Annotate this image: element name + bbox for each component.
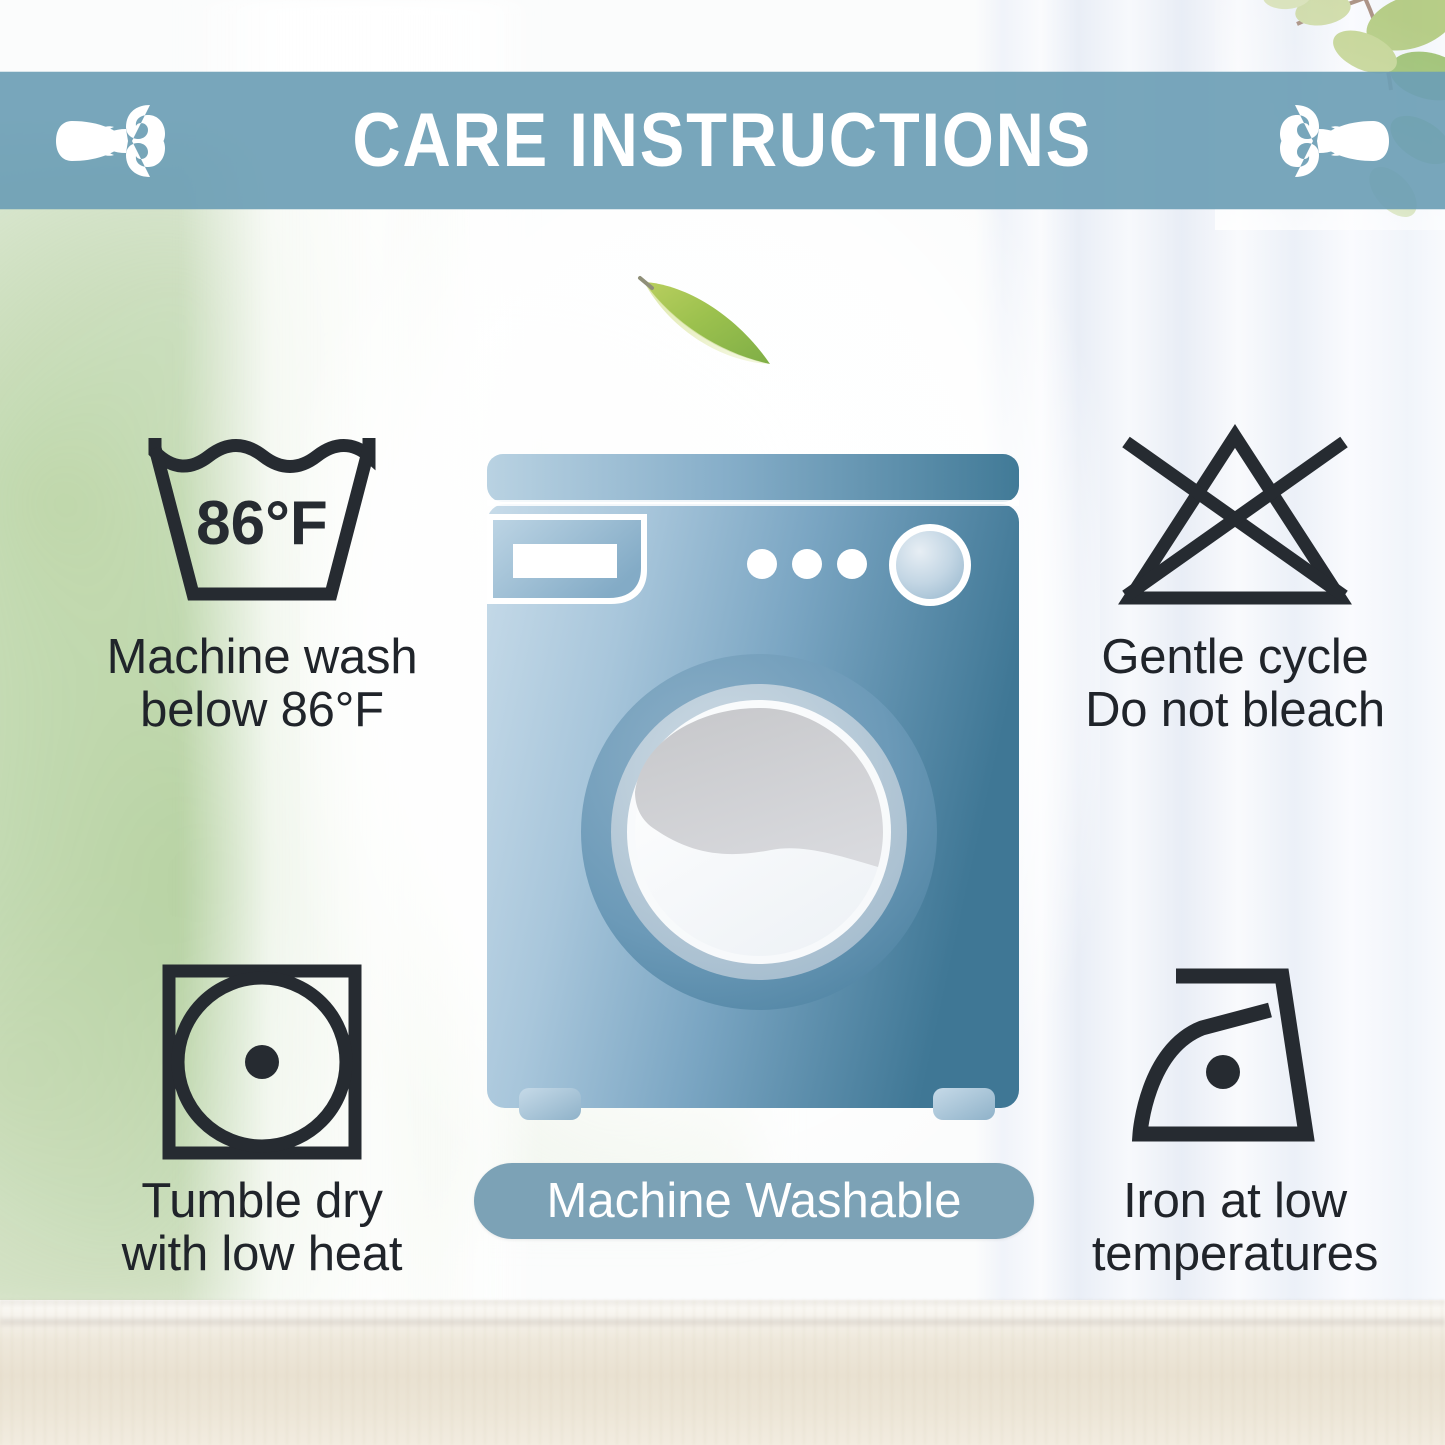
care-symbol-tumble-dry: Tumble dry with low heat — [52, 962, 472, 1281]
caption-line-1: Tumble dry — [122, 1175, 403, 1228]
iron-low-icon — [1110, 962, 1360, 1167]
crossed-triangle-icon — [1110, 418, 1360, 623]
caption-line-2: below 86°F — [107, 684, 418, 737]
infographic-canvas: CARE INSTRUCTIONS — [0, 0, 1445, 1445]
care-symbol-iron-low: Iron at low temperatures — [1025, 962, 1445, 1281]
wood-table-edge — [0, 1317, 1445, 1327]
page-title: CARE INSTRUCTIONS — [344, 103, 1101, 179]
control-knob — [889, 524, 971, 606]
caption-line-1: Gentle cycle — [1085, 631, 1385, 684]
wash-temperature-label: 86°F — [196, 489, 328, 558]
caption-line-1: Iron at low — [1092, 1175, 1378, 1228]
indicator-lights — [747, 549, 867, 579]
caption-line-2: with low heat — [122, 1228, 403, 1281]
front-load-washing-machine-illustration — [483, 452, 1023, 1122]
care-symbol-machine-wash: 86°F Machine wash below 86°F — [52, 418, 472, 737]
caption-line-1: Machine wash — [107, 631, 418, 684]
detergent-drawer — [487, 514, 647, 604]
care-symbol-caption: Iron at low temperatures — [1092, 1175, 1378, 1281]
badge-label: Machine Washable — [547, 1177, 962, 1226]
care-symbol-caption: Tumble dry with low heat — [122, 1175, 403, 1281]
care-symbol-caption: Machine wash below 86°F — [107, 631, 418, 737]
header-banner: CARE INSTRUCTIONS — [0, 72, 1445, 209]
care-symbol-caption: Gentle cycle Do not bleach — [1085, 631, 1385, 737]
caption-line-2: Do not bleach — [1085, 684, 1385, 737]
machine-washable-badge: Machine Washable — [474, 1163, 1034, 1239]
care-symbol-do-not-bleach: Gentle cycle Do not bleach — [1025, 418, 1445, 737]
wash-tub-icon: 86°F — [137, 418, 387, 623]
fleur-de-lis-icon-right — [1258, 91, 1393, 191]
washer-door-porthole — [581, 654, 937, 1010]
floating-leaf-icon — [630, 268, 790, 378]
fleur-de-lis-icon-left — [52, 91, 187, 191]
caption-line-2: temperatures — [1092, 1228, 1378, 1281]
tumble-dry-low-icon — [137, 962, 387, 1167]
